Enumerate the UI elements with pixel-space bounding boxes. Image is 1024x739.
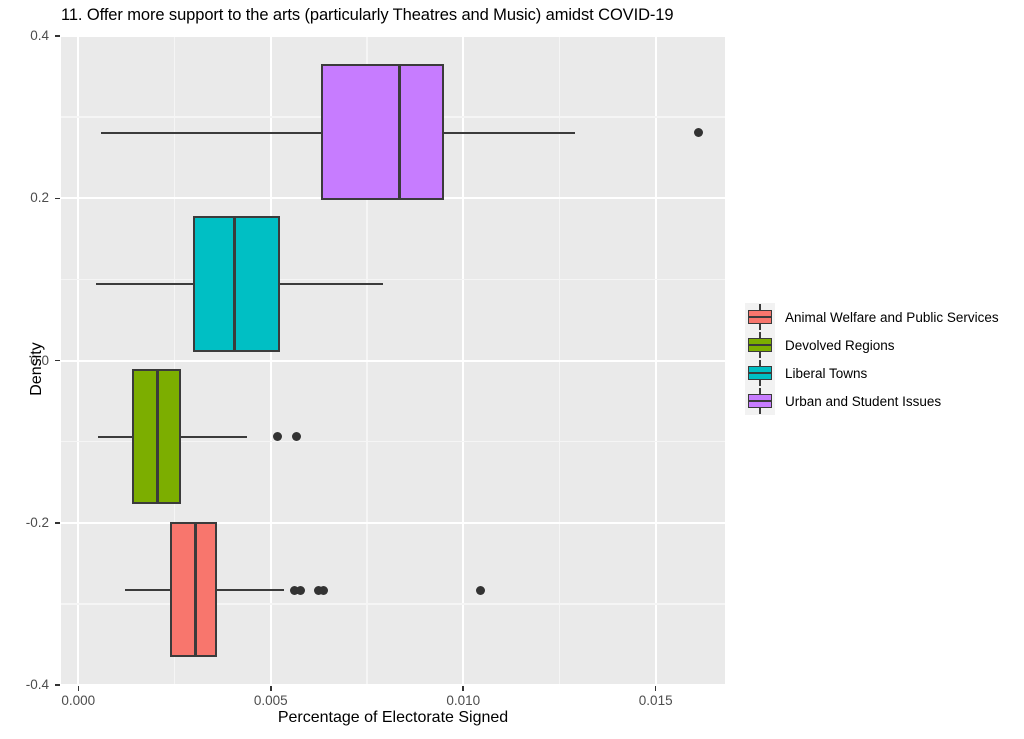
y-axis-tick-mark [55,35,60,37]
boxplot-whisker-high [444,132,574,134]
chart-root: 11. Offer more support to the arts (part… [0,0,1024,739]
boxplot-median-line [398,64,401,199]
y-axis-tick-mark [55,198,60,200]
page-title: 11. Offer more support to the arts (part… [61,6,673,25]
legend-item: Animal Welfare and Public Services [745,303,1020,331]
legend-key-boxplot-icon [745,387,775,415]
boxplot-outlier-point [694,128,703,137]
legend-item-label: Liberal Towns [785,366,867,381]
legend-item: Devolved Regions [745,331,1020,359]
x-axis-tick-label: 0.015 [616,693,696,708]
legend-item-label: Animal Welfare and Public Services [785,310,999,325]
legend-item: Liberal Towns [745,359,1020,387]
boxplot-group [61,36,725,685]
legend-item-label: Devolved Regions [785,338,895,353]
legend-key-median [748,316,772,318]
x-axis-title: Percentage of Electorate Signed [61,709,725,727]
boxplot-box [321,64,444,199]
y-axis-tick-label: -0.4 [0,677,49,692]
plot-panel [61,36,725,685]
legend-key-median [748,372,772,374]
y-axis-tick-label: 0.2 [0,190,49,205]
legend-item-label: Urban and Student Issues [785,394,941,409]
x-axis-tick-mark [655,686,657,691]
y-axis-tick-label: 0.4 [0,28,49,43]
y-axis-tick-mark [55,522,60,524]
legend-key-boxplot-icon [745,331,775,359]
y-axis-title: Density [28,269,46,469]
x-axis-tick-mark [462,686,464,691]
y-axis-tick-label: -0.2 [0,515,49,530]
legend-item: Urban and Student Issues [745,387,1020,415]
x-axis-tick-label: 0.000 [38,693,118,708]
x-axis-tick-mark [78,686,80,691]
x-axis-tick-label: 0.010 [423,693,503,708]
y-axis-tick-mark [55,360,60,362]
legend-key-median [748,400,772,402]
x-axis-tick-label: 0.005 [231,693,311,708]
legend-key-boxplot-icon [745,359,775,387]
boxplot-whisker-low [101,132,321,134]
legend: Animal Welfare and Public ServicesDevolv… [745,303,1020,415]
y-axis-tick-mark [55,684,60,686]
legend-key-boxplot-icon [745,303,775,331]
x-axis-tick-mark [270,686,272,691]
legend-key-median [748,344,772,346]
